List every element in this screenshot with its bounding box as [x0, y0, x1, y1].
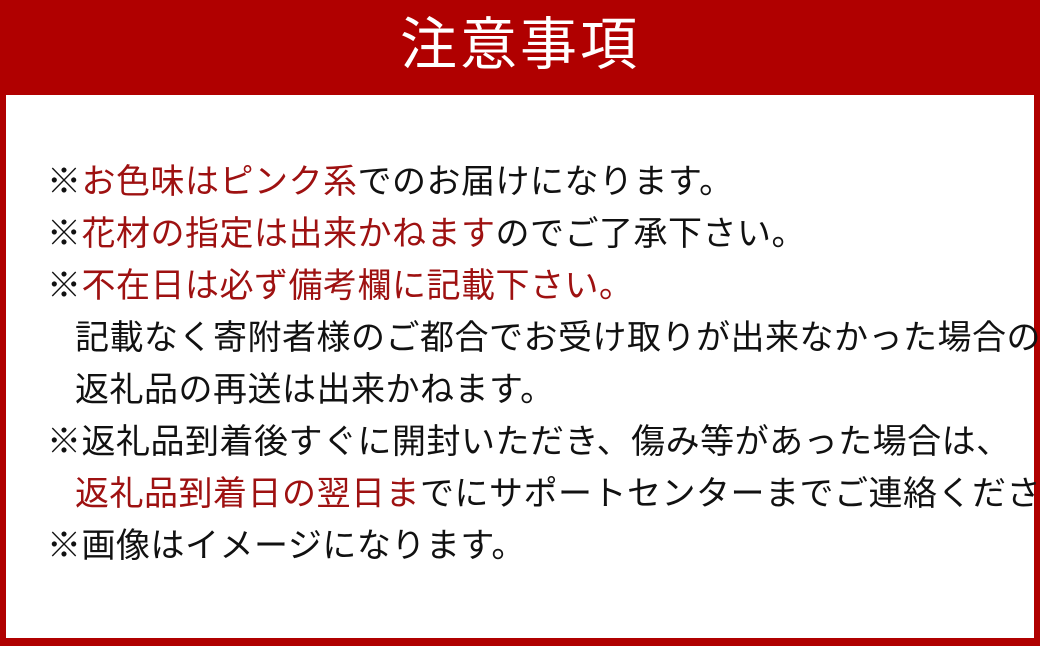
notice-text-segment: ※	[47, 216, 82, 253]
notice-line-flower-material: ※花材の指定は出来かねますのでご了承下さい。	[47, 209, 1040, 261]
notice-text-segment: でにサポートセンターまでご連絡ください。	[420, 476, 1040, 513]
notice-text-segment: ※返礼品到着後すぐに開封いただき、傷み等があった場合は、	[47, 424, 1011, 461]
notice-text-segment: 返礼品到着日の翌日ま	[75, 476, 420, 513]
notice-card: 注意事項 ※お色味はピンク系でのお届けになります。※花材の指定は出来かねますので…	[0, 0, 1040, 646]
notice-line-damage-report-2: 返礼品到着日の翌日までにサポートセンターまでご連絡ください。	[47, 469, 1040, 521]
notice-text-segment: のでご了承下さい。	[496, 216, 807, 253]
notice-text-segment: ※	[47, 164, 82, 201]
notice-text-segment: ※画像はイメージになります。	[47, 528, 526, 565]
page-title: 注意事項	[400, 17, 640, 78]
notice-line-damage-report-1: ※返礼品到着後すぐに開封いただき、傷み等があった場合は、	[47, 417, 1040, 469]
notice-text-segment: でのお届けになります。	[358, 164, 734, 201]
notice-text-segment: 返礼品の再送は出来かねます。	[75, 372, 555, 409]
notice-line-color-tone: ※お色味はピンク系でのお届けになります。	[47, 157, 1040, 209]
notice-text-segment: お色味はピンク系	[82, 164, 358, 201]
notice-text-segment: ※	[47, 268, 82, 305]
notice-text-segment: 不在日は必ず備考欄に記載下さい。	[82, 268, 634, 305]
notice-line-image-disclaimer: ※画像はイメージになります。	[47, 521, 1040, 573]
notice-text-segment: 花材の指定は出来かねます	[82, 216, 496, 253]
notice-list: ※お色味はピンク系でのお届けになります。※花材の指定は出来かねますのでご了承下さ…	[0, 95, 1040, 638]
notice-line-absence-date-detail-1: 記載なく寄附者様のご都合でお受け取りが出来なかった場合の	[47, 313, 1040, 365]
frame-border-bottom	[0, 638, 1040, 646]
header-banner: 注意事項	[0, 0, 1040, 95]
notice-line-absence-date: ※不在日は必ず備考欄に記載下さい。	[47, 261, 1040, 313]
notice-text-segment: 記載なく寄附者様のご都合でお受け取りが出来なかった場合の	[75, 320, 1040, 357]
notice-line-absence-date-detail-2: 返礼品の再送は出来かねます。	[47, 365, 1040, 417]
